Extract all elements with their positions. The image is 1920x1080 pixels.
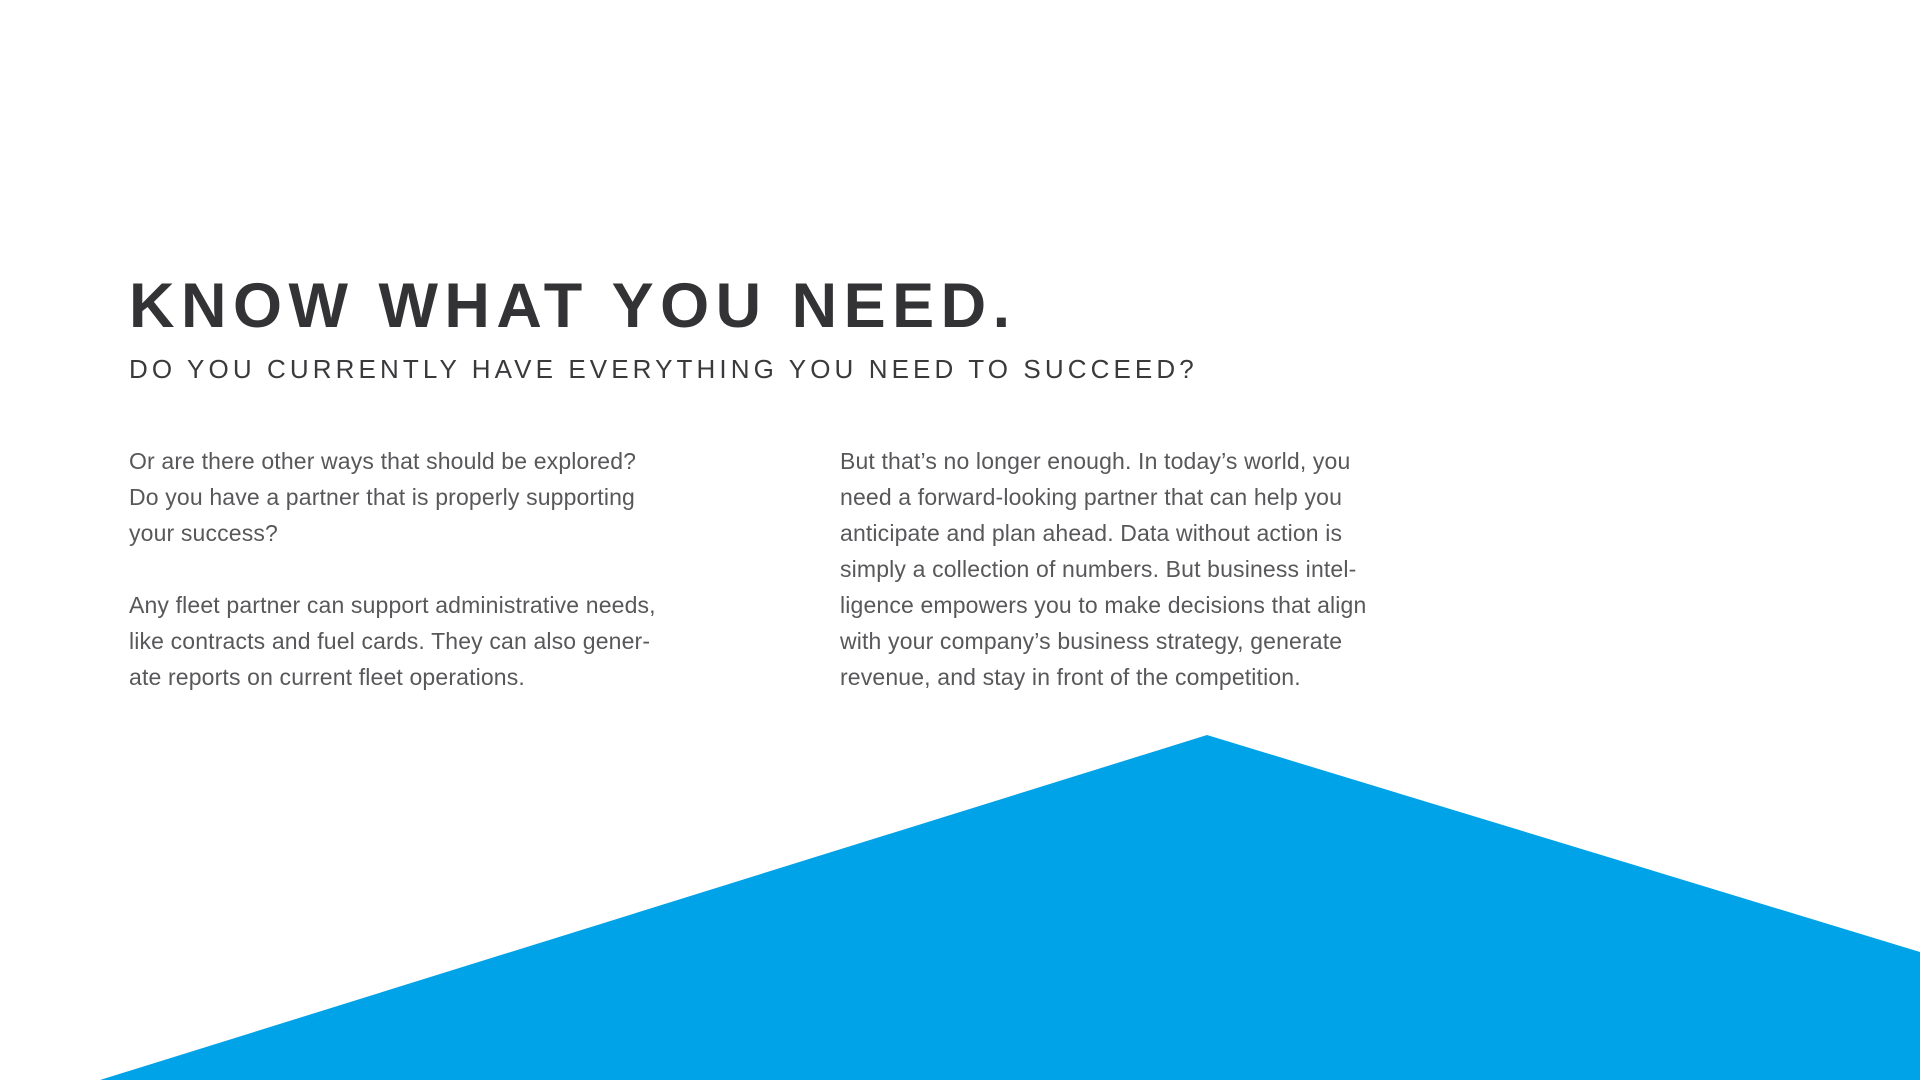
text-line: anticipate and plan ahead. Data without …: [840, 515, 1460, 551]
body-column-left: Or are there other ways that should be e…: [129, 443, 729, 695]
body-columns: Or are there other ways that should be e…: [129, 443, 1789, 695]
page-title: KNOW WHAT YOU NEED.: [129, 272, 1789, 340]
slide-content: KNOW WHAT YOU NEED. DO YOU CURRENTLY HAV…: [129, 272, 1789, 695]
left-paragraph-2: Any fleet partner can support administra…: [129, 587, 729, 695]
text-line: But that’s no longer enough. In today’s …: [840, 443, 1460, 479]
text-line: Any fleet partner can support administra…: [129, 587, 729, 623]
text-line: with your company’s business strategy, g…: [840, 623, 1460, 659]
text-line: like contracts and fuel cards. They can …: [129, 623, 729, 659]
body-column-right: But that’s no longer enough. In today’s …: [840, 443, 1460, 695]
blue-chevron-polygon: [100, 735, 1920, 1080]
text-line: Do you have a partner that is properly s…: [129, 479, 729, 515]
left-paragraph-1: Or are there other ways that should be e…: [129, 443, 729, 551]
text-line: ate reports on current fleet operations.: [129, 659, 729, 695]
page-subtitle: DO YOU CURRENTLY HAVE EVERYTHING YOU NEE…: [129, 354, 1789, 385]
text-line: your success?: [129, 515, 729, 551]
text-line: simply a collection of numbers. But busi…: [840, 551, 1460, 587]
text-line: Or are there other ways that should be e…: [129, 443, 729, 479]
right-paragraph-1: But that’s no longer enough. In today’s …: [840, 443, 1460, 695]
text-line: need a forward-looking partner that can …: [840, 479, 1460, 515]
text-line: ligence empowers you to make decisions t…: [840, 587, 1460, 623]
text-line: revenue, and stay in front of the compet…: [840, 659, 1460, 695]
slide-canvas: KNOW WHAT YOU NEED. DO YOU CURRENTLY HAV…: [0, 0, 1920, 1080]
